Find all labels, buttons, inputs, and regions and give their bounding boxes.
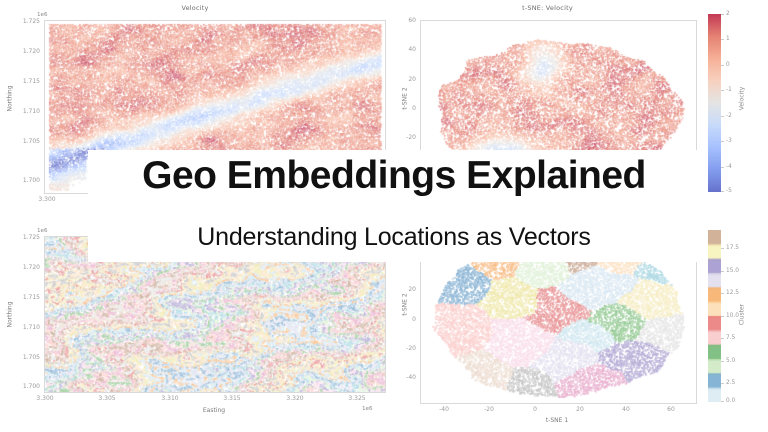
velocity-cb-tick-6: -4 bbox=[726, 164, 732, 170]
cluster-colorbar[interactable] bbox=[708, 230, 721, 402]
y-axis-label-tsne-velocity: t-SNE 2 bbox=[402, 79, 409, 119]
x-axis-label-map-cluster: Easting bbox=[164, 407, 264, 414]
y-tick-tsne-cluster-3: 20 bbox=[394, 286, 416, 293]
y-tick-map-velocity-0: 1.700 bbox=[10, 177, 40, 184]
cluster-cb-tick-0: 17.5 bbox=[726, 245, 739, 251]
cluster-cb-tick-6: 2.5 bbox=[726, 380, 735, 386]
y-tick-map-cluster-2: 1.710 bbox=[10, 324, 40, 331]
cluster-colorbar-group: Cluster 17.5 15.0 12.5 10.0 7.5 5.0 2.5 … bbox=[700, 216, 768, 432]
x-multiplier-map-cluster: 1e6 bbox=[362, 406, 373, 412]
x-tick-map-cluster-5: 3.325 bbox=[342, 395, 372, 402]
x-tick-map-cluster-2: 3.310 bbox=[155, 395, 185, 402]
cluster-cb-tick-4: 7.5 bbox=[726, 335, 735, 341]
page-subtitle: Understanding Locations as Vectors bbox=[88, 223, 700, 252]
x-tick-tsne-cluster-1: -20 bbox=[477, 406, 501, 413]
y-tick-map-cluster-5: 1.725 bbox=[10, 234, 40, 241]
velocity-cb-tick-2: 0 bbox=[726, 62, 730, 68]
cluster-cb-tick-1: 15.0 bbox=[726, 268, 739, 274]
cluster-cb-tick-5: 5.0 bbox=[726, 358, 735, 364]
y-tick-tsne-velocity-3: 40 bbox=[394, 46, 416, 53]
x-tick-map-cluster-3: 3.315 bbox=[217, 395, 247, 402]
cluster-cb-tick-7: 0.0 bbox=[726, 398, 735, 404]
x-tick-tsne-cluster-3: 20 bbox=[568, 406, 592, 413]
velocity-cb-tick-4: -2 bbox=[726, 113, 732, 119]
y-tick-map-velocity-5: 1.725 bbox=[10, 18, 40, 25]
subtitle-banner: Understanding Locations as Vectors bbox=[88, 216, 700, 262]
y-tick-tsne-velocity-1: 0 bbox=[394, 105, 416, 112]
velocity-colorbar-label: Velocity bbox=[739, 79, 746, 119]
y-tick-map-velocity-4: 1.720 bbox=[10, 48, 40, 55]
x-axis-label-tsne-cluster: t-SNE 1 bbox=[507, 417, 607, 424]
y-tick-map-velocity-2: 1.710 bbox=[10, 108, 40, 115]
x-tick-map-cluster-1: 3.305 bbox=[92, 395, 122, 402]
velocity-cb-tick-5: -3 bbox=[726, 138, 732, 144]
y-tick-map-cluster-0: 1.700 bbox=[10, 383, 40, 390]
panel-title-map-velocity: Velocity bbox=[30, 4, 360, 12]
velocity-cb-tick-7: -5 bbox=[726, 188, 732, 194]
y-tick-tsne-velocity-4: 60 bbox=[394, 17, 416, 24]
y-tick-tsne-cluster-2: 0 bbox=[394, 316, 416, 323]
figure-canvas: Velocity 1e6 Northing 1.725 1.720 1.715 … bbox=[0, 0, 768, 432]
y-tick-map-velocity-3: 1.715 bbox=[10, 78, 40, 85]
x-tick-tsne-cluster-2: 0 bbox=[523, 406, 547, 413]
velocity-cb-tick-3: -1 bbox=[726, 87, 732, 93]
x-tick-map-cluster-0: 3.300 bbox=[30, 395, 60, 402]
velocity-cb-tick-1: 1 bbox=[726, 36, 730, 42]
y-tick-map-cluster-3: 1.715 bbox=[10, 294, 40, 301]
velocity-colorbar-group: Velocity 2 1 0 -1 -2 -3 -4 -5 bbox=[700, 0, 768, 216]
x-tick-tsne-cluster-5: 60 bbox=[659, 406, 683, 413]
cluster-colorbar-label: Cluster bbox=[739, 295, 746, 335]
velocity-cb-tick-0: 2 bbox=[726, 11, 730, 17]
y-tick-map-cluster-4: 1.720 bbox=[10, 264, 40, 271]
y-tick-tsne-velocity-0: -20 bbox=[394, 134, 416, 141]
panel-title-tsne-velocity: t-SNE: Velocity bbox=[415, 4, 680, 12]
y-tick-tsne-cluster-0: -40 bbox=[394, 374, 416, 381]
velocity-colorbar[interactable] bbox=[708, 14, 721, 192]
title-banner: Geo Embeddings Explained bbox=[88, 150, 700, 204]
cluster-cb-tick-2: 12.5 bbox=[726, 290, 739, 296]
y-tick-map-velocity-1: 1.705 bbox=[10, 138, 40, 145]
page-title: Geo Embeddings Explained bbox=[88, 154, 700, 198]
cluster-cb-tick-3: 10.0 bbox=[726, 313, 739, 319]
x-tick-map-cluster-4: 3.320 bbox=[280, 395, 310, 402]
y-tick-tsne-cluster-1: -20 bbox=[394, 345, 416, 352]
y-tick-map-cluster-1: 1.705 bbox=[10, 354, 40, 361]
x-tick-tsne-cluster-4: 40 bbox=[614, 406, 638, 413]
x-tick-tsne-cluster-0: -40 bbox=[432, 406, 456, 413]
x-tick-map-velocity-0: 3.300 bbox=[32, 196, 62, 203]
y-tick-tsne-velocity-2: 20 bbox=[394, 76, 416, 83]
